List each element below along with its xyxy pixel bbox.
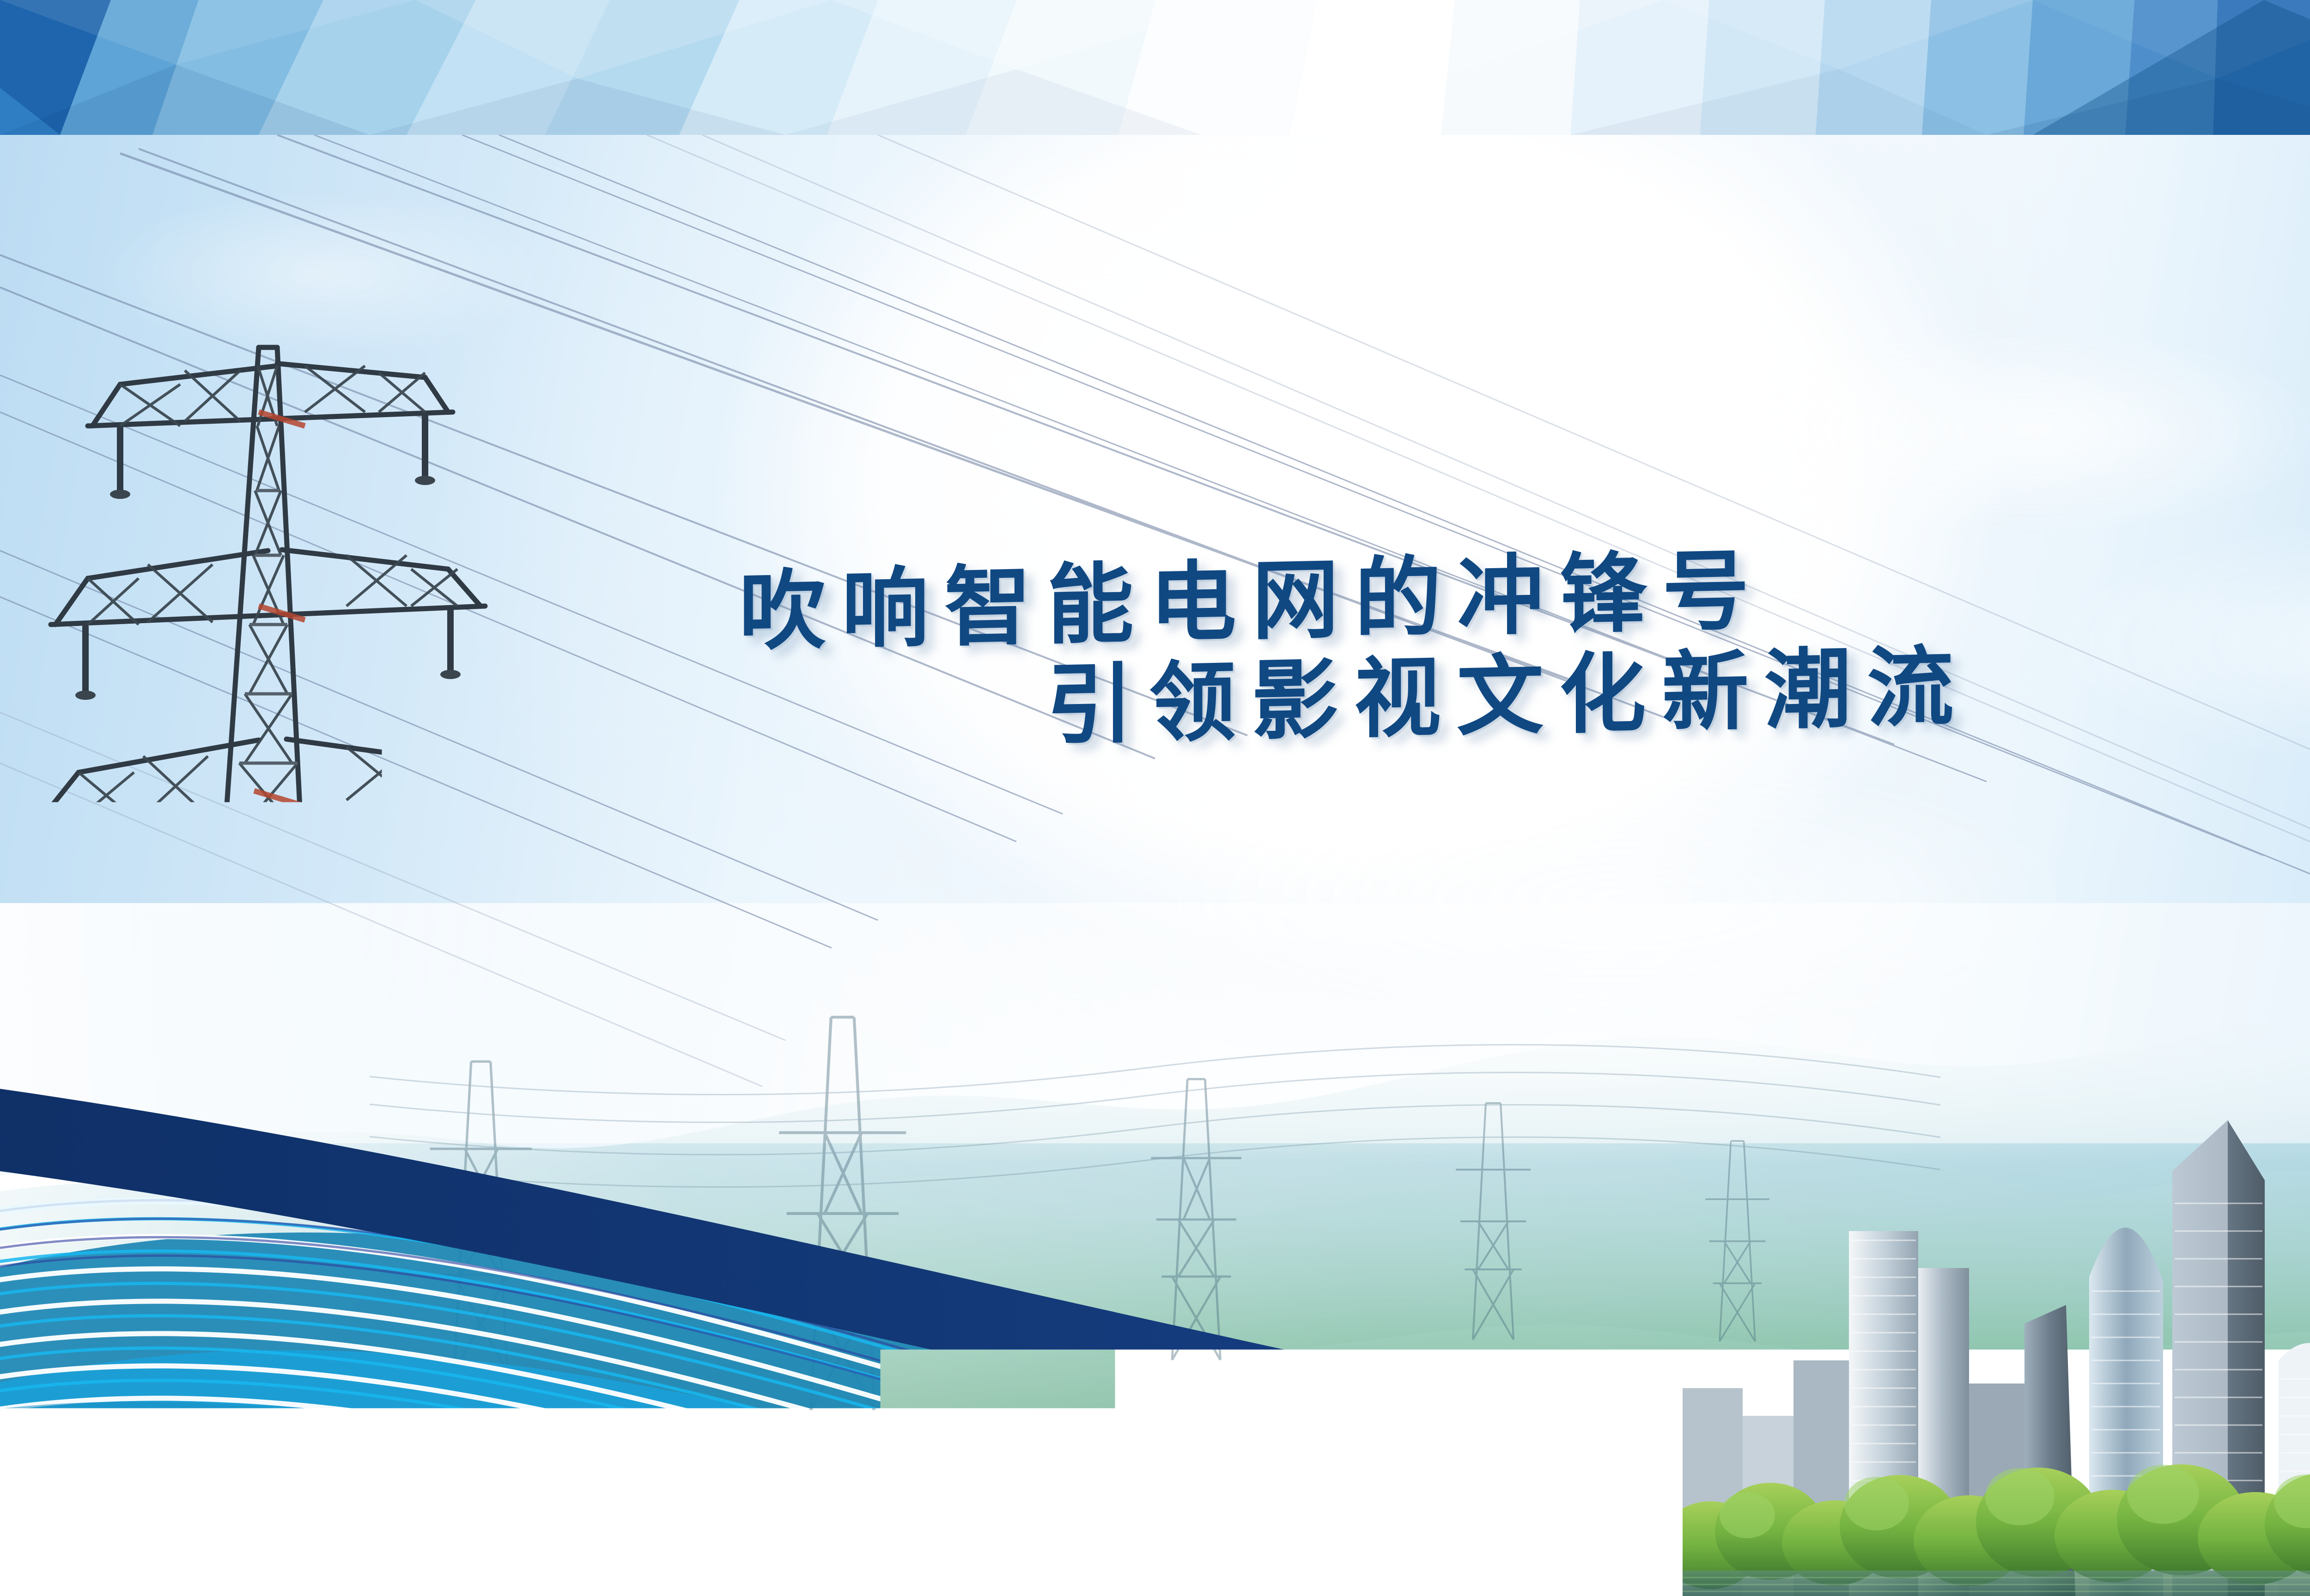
banner-stage: 吹响智能电网的冲锋号 引领影视文化新潮流 — [0, 0, 2310, 1596]
high-voltage-transmission-tower — [0, 273, 559, 1475]
city-skyline — [1683, 1065, 2310, 1596]
top-polygon-band — [0, 0, 2310, 135]
photo-backdrop — [0, 135, 2310, 1596]
